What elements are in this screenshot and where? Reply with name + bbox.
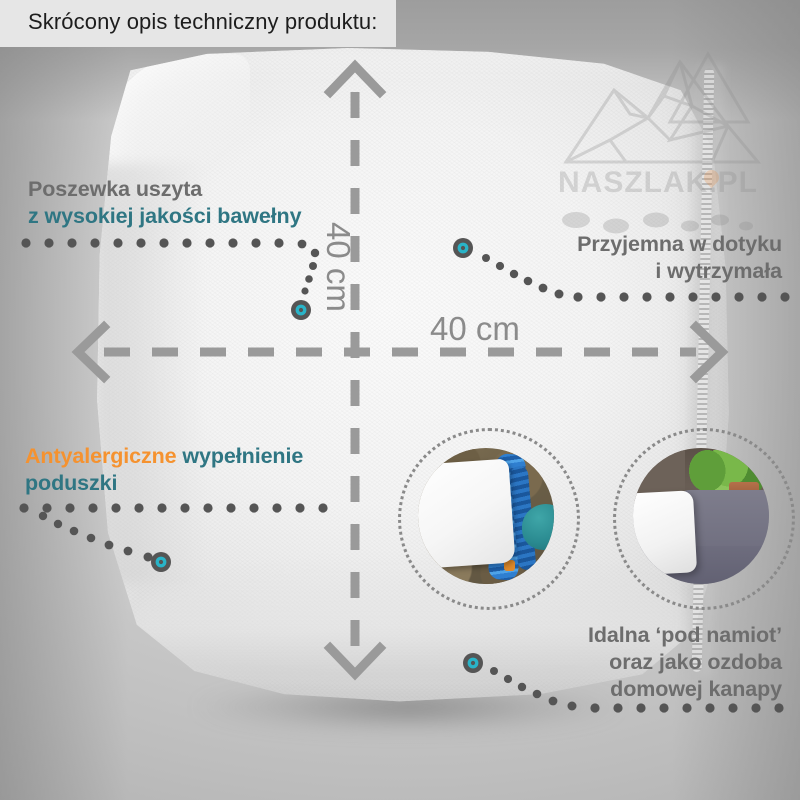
callout-usage: Idalna ‘pod namiot’ oraz jako ozdoba dom… (398, 622, 782, 703)
callout-fabric: Poszewka uszyta z wysokiej jakości baweł… (28, 176, 301, 230)
photo-indoor-pillow (633, 490, 697, 576)
callout-touch-line-2: i wytrzymała (398, 258, 782, 285)
callout-touch: Przyjemna w dotyku i wytrzymała (398, 231, 782, 285)
callout-filling-tail: wypełnienie (177, 444, 304, 468)
pillow-body (92, 44, 732, 704)
callout-fabric-line-2: z wysokiej jakości bawełny (28, 203, 301, 230)
callout-touch-line-1: Przyjemna w dotyku (398, 231, 782, 258)
callout-filling: Antyalergiczne wypełnienie poduszki (25, 443, 303, 497)
page-title: Skrócony opis techniczny produktu: (28, 9, 377, 35)
vertical-dimension-label: 40 cm (319, 222, 357, 312)
photo-outdoor-pillow (418, 458, 516, 569)
callout-filling-line-2: poduszki (25, 470, 303, 497)
photo-outdoor (418, 448, 554, 584)
infographic-canvas: NASZLAK.PL 40 cm 40 cm (0, 0, 800, 800)
callout-fabric-line-1: Poszewka uszyta (28, 176, 301, 203)
photo-indoor (633, 448, 769, 584)
callout-usage-line-2: oraz jako ozdoba (398, 649, 782, 676)
callout-filling-emphasis: Antyalergiczne (25, 444, 177, 468)
callout-usage-line-3: domowej kanapy (398, 676, 782, 703)
header-banner: Skrócony opis techniczny produktu: (0, 0, 396, 47)
horizontal-dimension-label: 40 cm (430, 310, 520, 348)
callout-filling-line-1: Antyalergiczne wypełnienie (25, 443, 303, 470)
callout-usage-line-1: Idalna ‘pod namiot’ (398, 622, 782, 649)
pillow-product-image (92, 44, 732, 704)
